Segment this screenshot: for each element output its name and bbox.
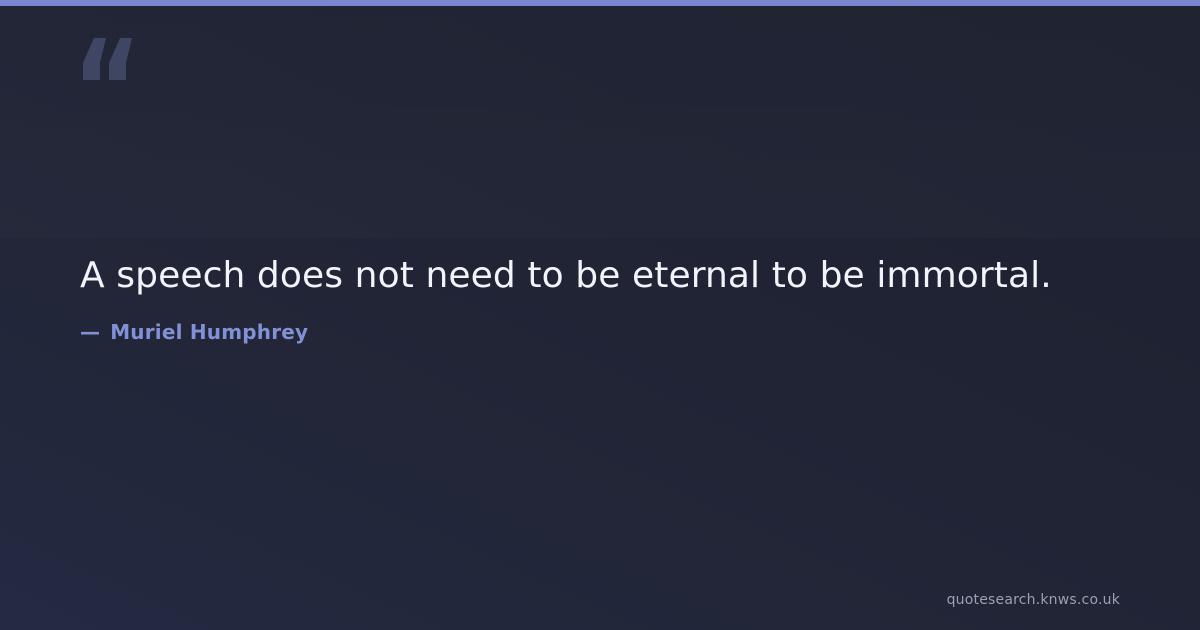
top-accent-bar [0, 0, 1200, 6]
attribution-author: Muriel Humphrey [110, 320, 308, 344]
background-band [0, 0, 1200, 238]
quote-text: A speech does not need to be eternal to … [80, 252, 1120, 300]
double-quote-open-icon [80, 18, 140, 88]
quote-content: A speech does not need to be eternal to … [80, 252, 1120, 344]
quote-card: A speech does not need to be eternal to … [0, 0, 1200, 630]
source-watermark: quotesearch.knws.co.uk [947, 592, 1120, 608]
quote-attribution: — Muriel Humphrey [80, 320, 1120, 344]
attribution-dash: — [80, 320, 100, 344]
